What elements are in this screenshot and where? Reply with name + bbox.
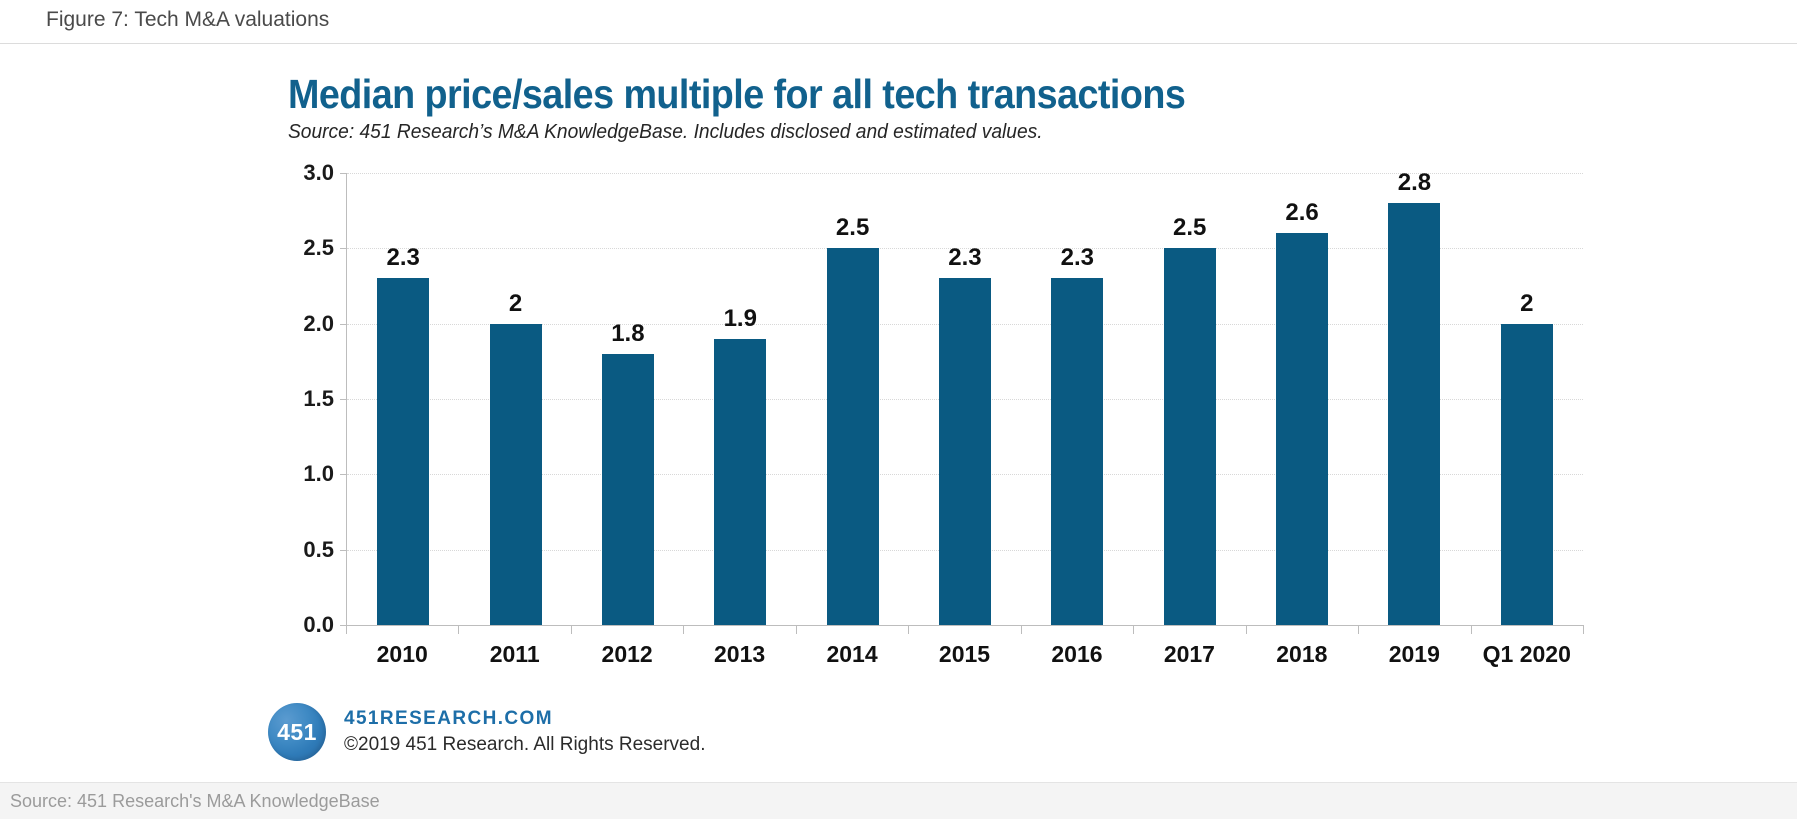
bar-slot[interactable]: 2.6	[1246, 173, 1358, 625]
bar[interactable]	[602, 354, 654, 625]
y-tick-label: 3.0	[303, 160, 334, 186]
bar-slot[interactable]: 2.3	[1021, 173, 1133, 625]
x-tick-label: 2016	[1021, 641, 1133, 668]
x-tick-mark	[458, 625, 459, 634]
x-tick-mark	[908, 625, 909, 634]
figure-header-bar: Figure 7: Tech M&A valuations	[0, 0, 1797, 44]
bar-value-label: 2.3	[386, 244, 419, 272]
x-tick-label: 2012	[571, 641, 683, 668]
bar-slot[interactable]: 2	[1471, 173, 1583, 625]
bar[interactable]	[1276, 233, 1328, 625]
x-tick-mark	[1583, 625, 1584, 634]
bar-value-label: 2.5	[836, 214, 869, 242]
bar-value-label: 1.8	[611, 320, 644, 348]
bar-slot[interactable]: 2.5	[1134, 173, 1246, 625]
bar-slot[interactable]: 2.3	[347, 173, 459, 625]
bar-slot[interactable]: 2	[459, 173, 571, 625]
bar-value-label: 2.6	[1285, 199, 1318, 227]
y-tick-mark	[340, 399, 347, 400]
451-logo-icon: 451	[268, 703, 326, 761]
y-tick-mark	[340, 248, 347, 249]
x-axis: 2010201120122013201420152016201720182019…	[346, 625, 1583, 671]
brand-footer: 451 451RESEARCH.COM ©2019 451 Research. …	[268, 700, 705, 764]
chart-subtitle-source: Source: 451 Research’s M&A KnowledgeBase…	[288, 121, 1043, 144]
y-tick-label: 1.0	[303, 461, 334, 487]
bar-slot[interactable]: 2.5	[796, 173, 908, 625]
chart-title: Median price/sales multiple for all tech…	[288, 71, 1185, 118]
x-tick-mark	[1471, 625, 1472, 634]
plot-area: 2.321.81.92.52.32.32.52.62.82	[346, 173, 1583, 625]
bar[interactable]	[1501, 324, 1553, 625]
bar-slot[interactable]: 2.3	[909, 173, 1021, 625]
x-tick-label: Q1 2020	[1471, 641, 1583, 668]
bar-value-label: 2.8	[1398, 169, 1431, 197]
bar-value-label: 1.9	[724, 305, 757, 333]
bar-value-label: 2.3	[948, 244, 981, 272]
y-tick-mark	[340, 173, 347, 174]
bar-slot[interactable]: 2.8	[1358, 173, 1470, 625]
x-tick-label: 2013	[683, 641, 795, 668]
y-tick-label: 2.0	[303, 311, 334, 337]
bar[interactable]	[1388, 203, 1440, 625]
chart-slide: Median price/sales multiple for all tech…	[0, 45, 1797, 776]
source-band: Source: 451 Research's M&A KnowledgeBase	[0, 782, 1797, 819]
y-axis: 0.00.51.01.52.02.53.0	[288, 173, 334, 625]
brand-website-link[interactable]: 451RESEARCH.COM	[344, 707, 705, 731]
x-tick-mark	[796, 625, 797, 634]
source-band-text: Source: 451 Research's M&A KnowledgeBase	[10, 791, 380, 812]
y-tick-mark	[340, 474, 347, 475]
bar[interactable]	[1164, 248, 1216, 625]
y-tick-label: 0.5	[303, 537, 334, 563]
brand-copyright: ©2019 451 Research. All Rights Reserved.	[344, 732, 705, 758]
y-tick-mark	[340, 550, 347, 551]
x-tick-label: 2010	[346, 641, 458, 668]
bar[interactable]	[1051, 278, 1103, 625]
y-tick-label: 2.5	[303, 235, 334, 261]
x-tick-label: 2018	[1246, 641, 1358, 668]
bar[interactable]	[490, 324, 542, 625]
figure-caption: Figure 7: Tech M&A valuations	[46, 8, 329, 32]
x-tick-mark	[346, 625, 347, 634]
bar-value-label: 2	[1520, 290, 1533, 318]
bar[interactable]	[714, 339, 766, 625]
x-tick-mark	[1358, 625, 1359, 634]
bar[interactable]	[827, 248, 879, 625]
x-tick-label: 2017	[1133, 641, 1245, 668]
bar-value-label: 2.5	[1173, 214, 1206, 242]
x-tick-mark	[683, 625, 684, 634]
x-tick-mark	[571, 625, 572, 634]
bar-series: 2.321.81.92.52.32.32.52.62.82	[347, 173, 1583, 625]
brand-logo-label: 451	[268, 703, 326, 761]
x-tick-label: 2014	[796, 641, 908, 668]
bar[interactable]	[939, 278, 991, 625]
x-tick-mark	[1021, 625, 1022, 634]
y-tick-label: 1.5	[303, 386, 334, 412]
bar-value-label: 2.3	[1061, 244, 1094, 272]
x-tick-label: 2015	[908, 641, 1020, 668]
y-tick-mark	[340, 324, 347, 325]
bar-slot[interactable]: 1.9	[684, 173, 796, 625]
bar-slot[interactable]: 1.8	[572, 173, 684, 625]
x-axis-labels: 2010201120122013201420152016201720182019…	[346, 641, 1583, 668]
bar[interactable]	[377, 278, 429, 625]
brand-text-block: 451RESEARCH.COM ©2019 451 Research. All …	[344, 707, 705, 757]
y-tick-label: 0.0	[303, 612, 334, 638]
bar-value-label: 2	[509, 290, 522, 318]
x-tick-label: 2011	[458, 641, 570, 668]
x-tick-mark	[1133, 625, 1134, 634]
x-tick-mark	[1246, 625, 1247, 634]
chart-plot-wrapper: 0.00.51.01.52.02.53.0 2.321.81.92.52.32.…	[288, 173, 1583, 643]
x-tick-label: 2019	[1358, 641, 1470, 668]
